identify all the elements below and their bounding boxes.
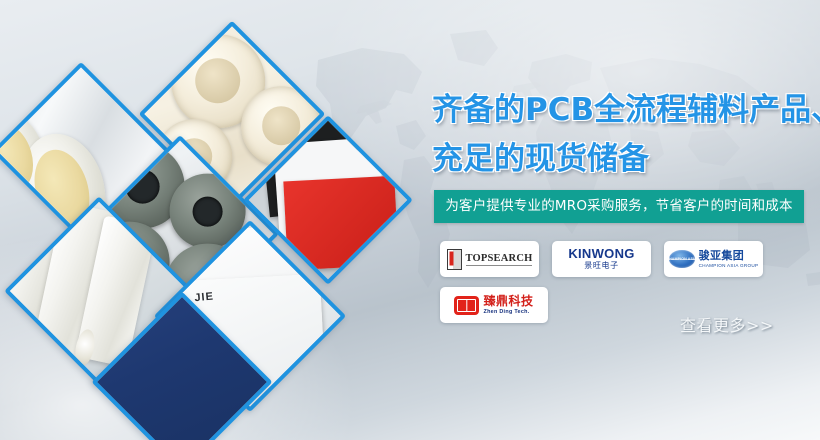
promo-banner: JIE 齐备的PCB全流程辅料产品、 充足的现货储备 为客户提供专业的MRO采购…: [0, 0, 820, 440]
kinwong-label-cn: 景旺电子: [584, 261, 618, 271]
banner-headline: 齐备的PCB全流程辅料产品、 充足的现货储备: [432, 86, 818, 184]
client-logo-kinwong[interactable]: KINWONG 景旺电子: [552, 241, 651, 277]
zhen-ding-mark-icon: [454, 296, 479, 315]
banner-subtitle-bar: 为客户提供专业的MRO采购服务，节省客户的时间和成本: [434, 190, 804, 223]
view-more-link[interactable]: 查看更多>>: [680, 312, 774, 336]
globe-inner-text: CHAMPION ASIA: [669, 257, 695, 261]
headline-line-2: 充足的现货储备: [432, 135, 818, 184]
headline-line-1: 齐备的PCB全流程辅料产品、: [432, 92, 820, 128]
champion-asia-label-cn: 骏亚集团: [699, 250, 759, 262]
zhen-ding-text: 臻鼎科技 Zhen Ding Tech.: [483, 295, 533, 316]
red-sheet-icon: [283, 176, 398, 271]
client-logo-row: TOPSEARCH KINWONG 景旺电子 CHAMPION ASIA 骏亚集…: [440, 241, 820, 277]
topsearch-mark-icon: [447, 249, 462, 270]
champion-asia-label-en: CHAMPION ASIA GROUP: [699, 262, 759, 269]
kinwong-label-en: KINWONG: [568, 247, 634, 260]
banner-content: 齐备的PCB全流程辅料产品、 充足的现货储备 为客户提供专业的MRO采购服务，节…: [430, 0, 820, 440]
zhen-ding-label-en: Zhen Ding Tech.: [483, 308, 533, 316]
champion-asia-text: 骏亚集团 CHAMPION ASIA GROUP: [699, 250, 759, 269]
client-logo-topsearch[interactable]: TOPSEARCH: [440, 241, 539, 277]
champion-asia-globe-icon: CHAMPION ASIA: [669, 250, 695, 268]
topsearch-label: TOPSEARCH: [466, 253, 533, 266]
zhen-ding-label-cn: 臻鼎科技: [483, 295, 533, 308]
product-collage: JIE: [0, 0, 420, 440]
adhesive-print-text: JIE: [194, 291, 214, 305]
client-logo-champion-asia[interactable]: CHAMPION ASIA 骏亚集团 CHAMPION ASIA GROUP: [664, 241, 763, 277]
client-logo-zhen-ding[interactable]: 臻鼎科技 Zhen Ding Tech.: [440, 287, 548, 323]
